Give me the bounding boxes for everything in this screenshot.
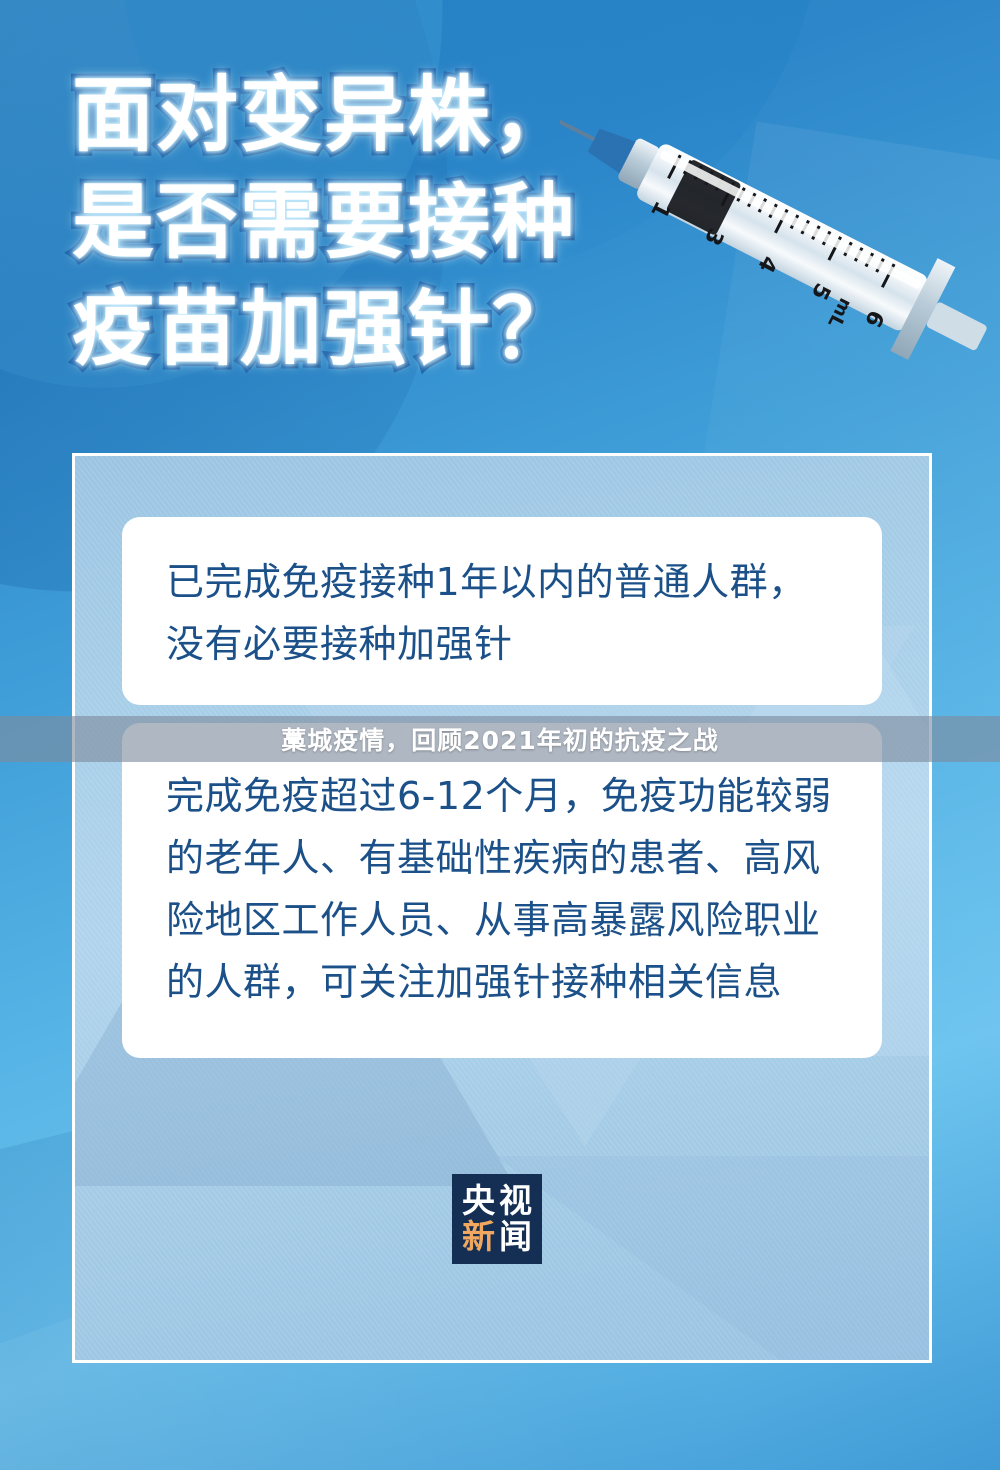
poster-canvas: 面对变异株， 是否需要接种 疫苗加强针？ xyxy=(0,0,1000,1470)
headline-line-2: 是否需要接种 xyxy=(72,169,772,276)
frame-triangle-shape xyxy=(495,1156,932,1363)
caption-banner: 藁城疫情，回顾2021年初的抗疫之战 xyxy=(0,716,1000,762)
headline-line-1: 面对变异株， xyxy=(72,62,772,169)
info-card-2-text: 完成免疫超过6-12个月，免疫功能较弱的老年人、有基础性疾病的患者、高风险地区工… xyxy=(166,765,842,1013)
logo-char-yang: 央 xyxy=(460,1183,497,1219)
caption-banner-text: 藁城疫情，回顾2021年初的抗疫之战 xyxy=(281,721,719,757)
info-card-2: 完成免疫超过6-12个月，免疫功能较弱的老年人、有基础性疾病的患者、高风险地区工… xyxy=(122,723,882,1058)
logo-char-wen: 闻 xyxy=(497,1219,534,1255)
logo-char-shi: 视 xyxy=(497,1183,534,1219)
headline-line-3: 疫苗加强针？ xyxy=(72,276,772,383)
logo-char-xin: 新 xyxy=(460,1219,497,1255)
info-card-1-text: 已完成免疫接种1年以内的普通人群，没有必要接种加强针 xyxy=(166,551,842,675)
cctv-news-logo: 央 视 新 闻 xyxy=(452,1174,542,1264)
poster-headline: 面对变异株， 是否需要接种 疫苗加强针？ xyxy=(72,62,772,383)
info-card-1: 已完成免疫接种1年以内的普通人群，没有必要接种加强针 xyxy=(122,517,882,705)
